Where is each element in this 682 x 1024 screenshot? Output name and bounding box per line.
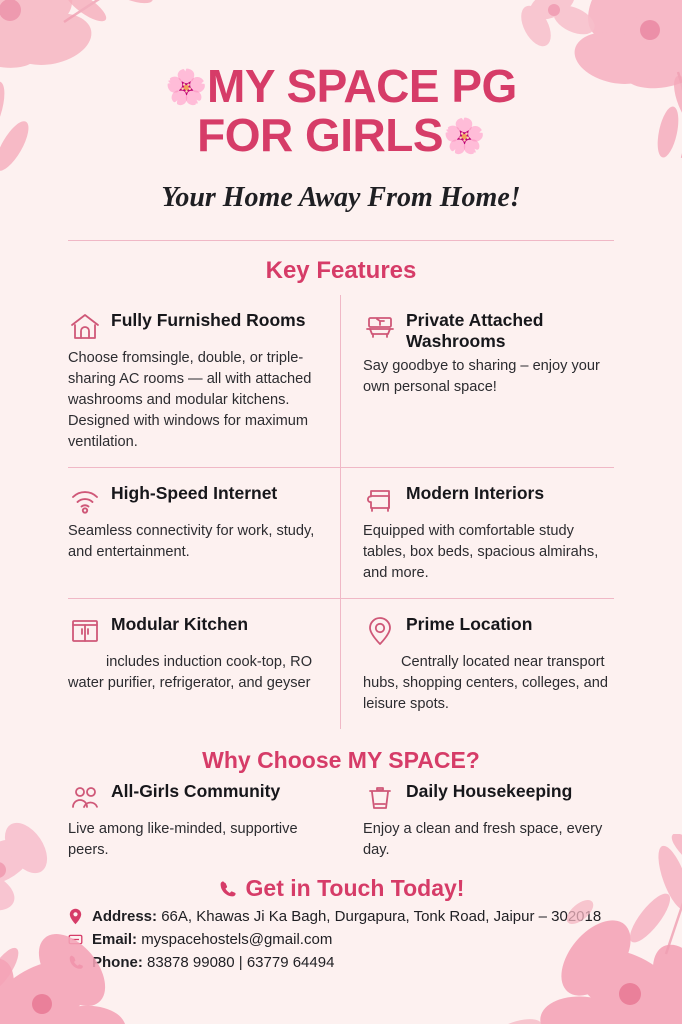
map-pin-icon: [363, 614, 397, 648]
contact-value: 66A, Khawas Ji Ka Bagh, Durgapura, Tonk …: [161, 908, 601, 925]
features-row-2: High-Speed Internet Seamless connectivit…: [68, 467, 614, 598]
feature-body: Equipped with comfortable study tables, …: [363, 521, 614, 584]
contact-label: Address:: [92, 908, 157, 925]
people-icon: [68, 781, 102, 815]
feature-title: Prime Location: [406, 613, 532, 635]
cabinet-icon: [68, 614, 102, 648]
feature-card-private-attached-washrooms: Private Attached Washrooms Say goodbye t…: [341, 295, 614, 467]
trash-bin-icon: [363, 781, 397, 815]
feature-body: Seamless connectivity for work, study, a…: [68, 521, 326, 563]
why-choose-row: All-Girls Community Live among like-mind…: [68, 780, 614, 861]
poster-header: 🌸MY SPACE PG FOR GIRLS🌸 Your Home Away F…: [0, 0, 682, 241]
feature-card-prime-location: Prime Location Centrally located near tr…: [341, 599, 614, 729]
contact-list: Address: 66A, Khawas Ji Ka Bagh, Durgapu…: [68, 908, 614, 971]
features-row-3: Modular Kitchen includes induction cook-…: [68, 598, 614, 729]
contact-heading-text: Get in Touch Today!: [246, 875, 465, 902]
poster-page: 🌸MY SPACE PG FOR GIRLS🌸 Your Home Away F…: [0, 0, 682, 1024]
header-divider: [68, 240, 614, 241]
feature-card-fully-furnished-rooms: Fully Furnished Rooms Choose fromsingle,…: [68, 295, 341, 467]
cherry-blossom-icon-left: 🌸: [165, 69, 207, 107]
feature-body: includes induction cook-top, RO water pu…: [68, 652, 326, 694]
why-choose-heading: Why Choose MY SPACE?: [0, 747, 682, 774]
contact-row-email: Email: myspacehostels@gmail.com: [68, 931, 614, 948]
contact-label: Email:: [92, 931, 137, 948]
feature-title: Modern Interiors: [406, 482, 544, 504]
contact-text-phone: Phone: 83878 99080 | 63779 64494: [92, 954, 334, 971]
feature-body: Choose fromsingle, double, or triple-sha…: [68, 348, 326, 453]
map-pin-icon: [68, 908, 83, 925]
contact-text-email: Email: myspacehostels@gmail.com: [92, 931, 332, 948]
why-card-daily-housekeeping: Daily Housekeeping Enjoy a clean and fre…: [341, 780, 614, 861]
why-title: Daily Housekeeping: [406, 780, 572, 802]
key-features-heading: Key Features: [0, 257, 682, 285]
cherry-blossom-icon-right: 🌸: [443, 118, 485, 156]
feature-card-modern-interiors: Modern Interiors Equipped with comfortab…: [341, 468, 614, 598]
why-title: All-Girls Community: [111, 780, 280, 802]
page-subtitle: Your Home Away From Home!: [0, 182, 682, 214]
contact-value: myspacehostels@gmail.com: [141, 931, 332, 948]
title-line-2: FOR GIRLS: [197, 109, 443, 161]
contact-heading: Get in Touch Today!: [0, 875, 682, 902]
phone-icon: [68, 954, 83, 971]
why-card-all-girls-community: All-Girls Community Live among like-mind…: [68, 780, 341, 861]
feature-title: Private Attached Washrooms: [406, 309, 614, 352]
feature-title: High-Speed Internet: [111, 482, 277, 504]
feature-card-modular-kitchen: Modular Kitchen includes induction cook-…: [68, 599, 341, 729]
contact-row-phone: Phone: 83878 99080 | 63779 64494: [68, 954, 614, 971]
contact-value: 83878 99080 | 63779 64494: [147, 954, 334, 971]
feature-card-high-speed-internet: High-Speed Internet Seamless connectivit…: [68, 468, 341, 598]
house-icon: [68, 310, 102, 344]
key-features-grid: Fully Furnished Rooms Choose fromsingle,…: [68, 295, 614, 729]
contact-row-address: Address: 66A, Khawas Ji Ka Bagh, Durgapu…: [68, 908, 614, 925]
sofa-icon: [363, 483, 397, 517]
feature-body: Centrally located near transport hubs, s…: [363, 652, 614, 715]
wifi-icon: [68, 483, 102, 517]
phone-icon: [218, 879, 238, 899]
page-title: 🌸MY SPACE PG FOR GIRLS🌸: [0, 62, 682, 160]
contact-label: Phone:: [92, 954, 143, 971]
features-row-1: Fully Furnished Rooms Choose fromsingle,…: [68, 295, 614, 467]
contact-text-address: Address: 66A, Khawas Ji Ka Bagh, Durgapu…: [92, 908, 601, 925]
why-body: Live among like-minded, supportive peers…: [68, 819, 331, 861]
feature-title: Modular Kitchen: [111, 613, 248, 635]
why-body: Enjoy a clean and fresh space, every day…: [363, 819, 614, 861]
envelope-icon: [68, 931, 83, 948]
feature-title: Fully Furnished Rooms: [111, 309, 305, 331]
title-line-1: MY SPACE PG: [207, 60, 517, 112]
bathtub-icon: [363, 310, 397, 344]
feature-body: Say goodbye to sharing – enjoy your own …: [363, 356, 614, 398]
